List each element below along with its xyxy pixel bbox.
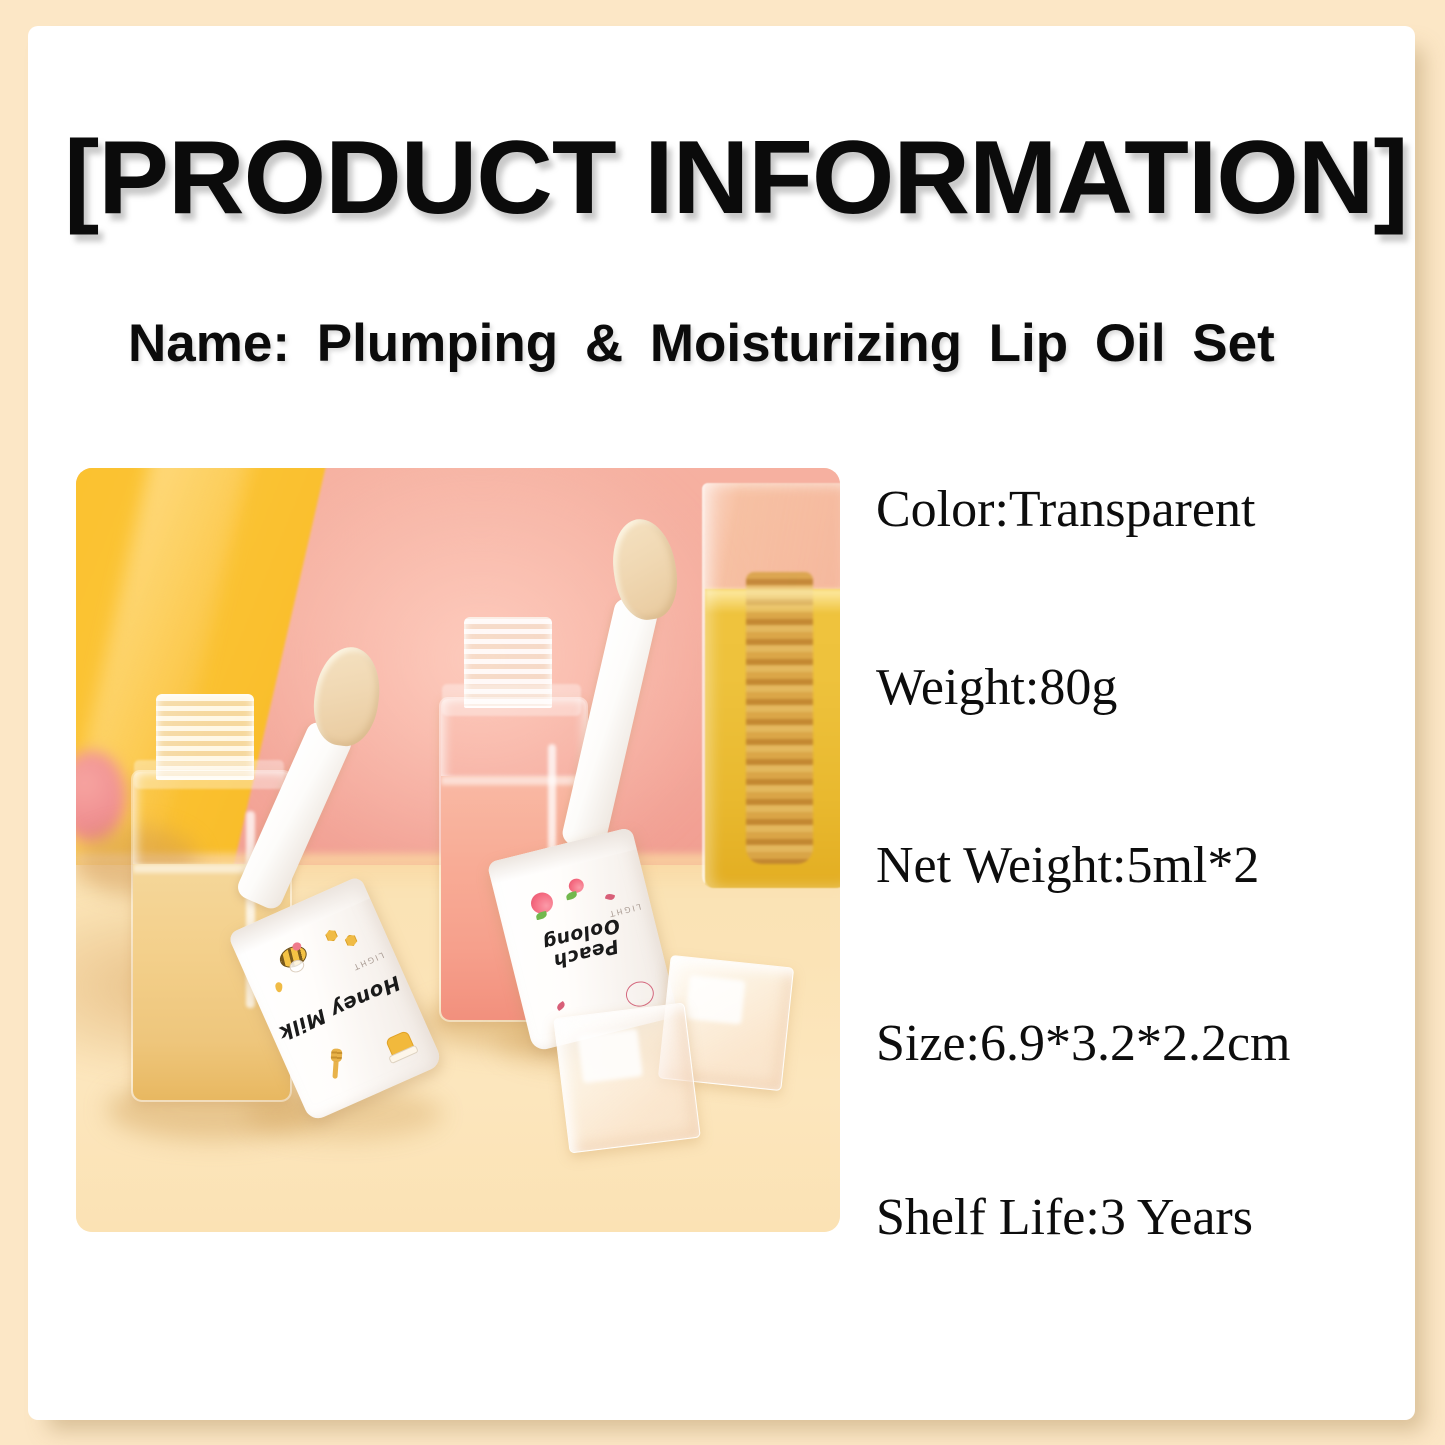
product-name-line: Name: Plumping & Moisturizing Lip Oil Se…: [128, 314, 1418, 375]
bee-icon: [277, 942, 311, 972]
honey-jar-glass: [702, 483, 840, 888]
honey-dipper-icon: [333, 1048, 340, 1078]
page-title: [PRODUCT INFORMATION]: [64, 126, 1421, 230]
photo-scene: Honey Milk LIGHT: [76, 468, 840, 1232]
petal-icon: [605, 893, 615, 901]
spec-size: Size:6.9*3.2*2.2cm: [876, 1018, 1416, 1070]
spec-shelf-life: Shelf Life:3 Years: [876, 1192, 1416, 1244]
honeycomb-icon: [344, 933, 359, 948]
spec-color: Color:Transparent: [876, 484, 1416, 536]
honey-jar-prop: [702, 483, 840, 888]
honey-pot-icon: [385, 1030, 415, 1059]
cap-title-text: Peach Oolong: [506, 906, 660, 981]
cap-subtitle-text: LIGHT: [349, 950, 387, 974]
spec-list: Color:Transparent Weight:80g Net Weight:…: [876, 466, 1416, 1246]
honeycomb-icon: [324, 928, 339, 943]
cap-title-text: Honey Milk: [269, 969, 410, 1047]
bottle-shoulder: [442, 684, 581, 716]
bee-blush: [292, 941, 303, 952]
product-photo: Honey Milk LIGHT: [76, 468, 840, 1232]
peach-fruit-icon: [528, 890, 554, 916]
spec-net-weight: Net Weight:5ml*2: [876, 840, 1416, 892]
honey-drop-icon: [275, 982, 283, 993]
liquid-surface: [441, 776, 586, 785]
product-information-page: [PRODUCT INFORMATION] Name: Plumping & M…: [0, 0, 1445, 1445]
petal-icon: [555, 1001, 566, 1011]
peach-fruit-icon: [567, 877, 585, 894]
ice-cube: [553, 1003, 700, 1154]
bottle-shoulder: [134, 760, 284, 790]
info-card: [PRODUCT INFORMATION] Name: Plumping & M…: [28, 26, 1415, 1420]
spec-weight: Weight:80g: [876, 662, 1416, 714]
